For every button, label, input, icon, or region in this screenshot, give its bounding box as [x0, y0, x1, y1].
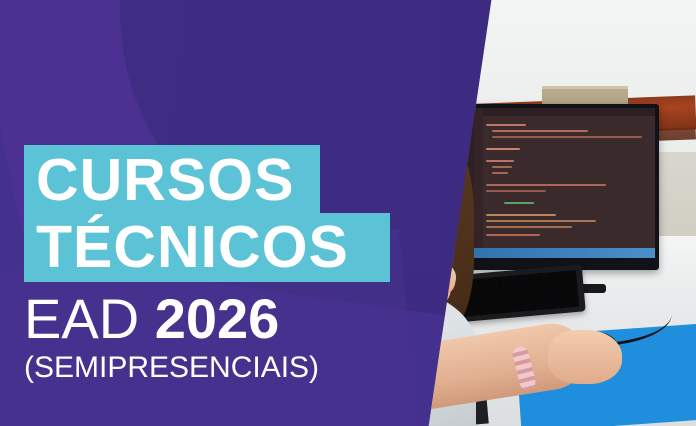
editor-gutter	[474, 108, 483, 258]
headline-line-1: CURSOS	[36, 147, 294, 213]
promo-banner: CURSOS TÉCNICOS EAD 2026 (SEMIPRESENCIAI…	[0, 0, 696, 426]
subheadline-year: 2026	[155, 287, 280, 350]
taskbar	[448, 248, 655, 258]
student-mouse-hand	[548, 330, 622, 384]
headline-line-2: TÉCNICOS	[36, 214, 349, 280]
modality-note: (SEMIPRESENCIAIS)	[24, 350, 319, 386]
subheadline-prefix: EAD	[24, 287, 155, 350]
editor-tabbar	[483, 108, 655, 116]
subheadline: EAD 2026	[24, 288, 279, 350]
